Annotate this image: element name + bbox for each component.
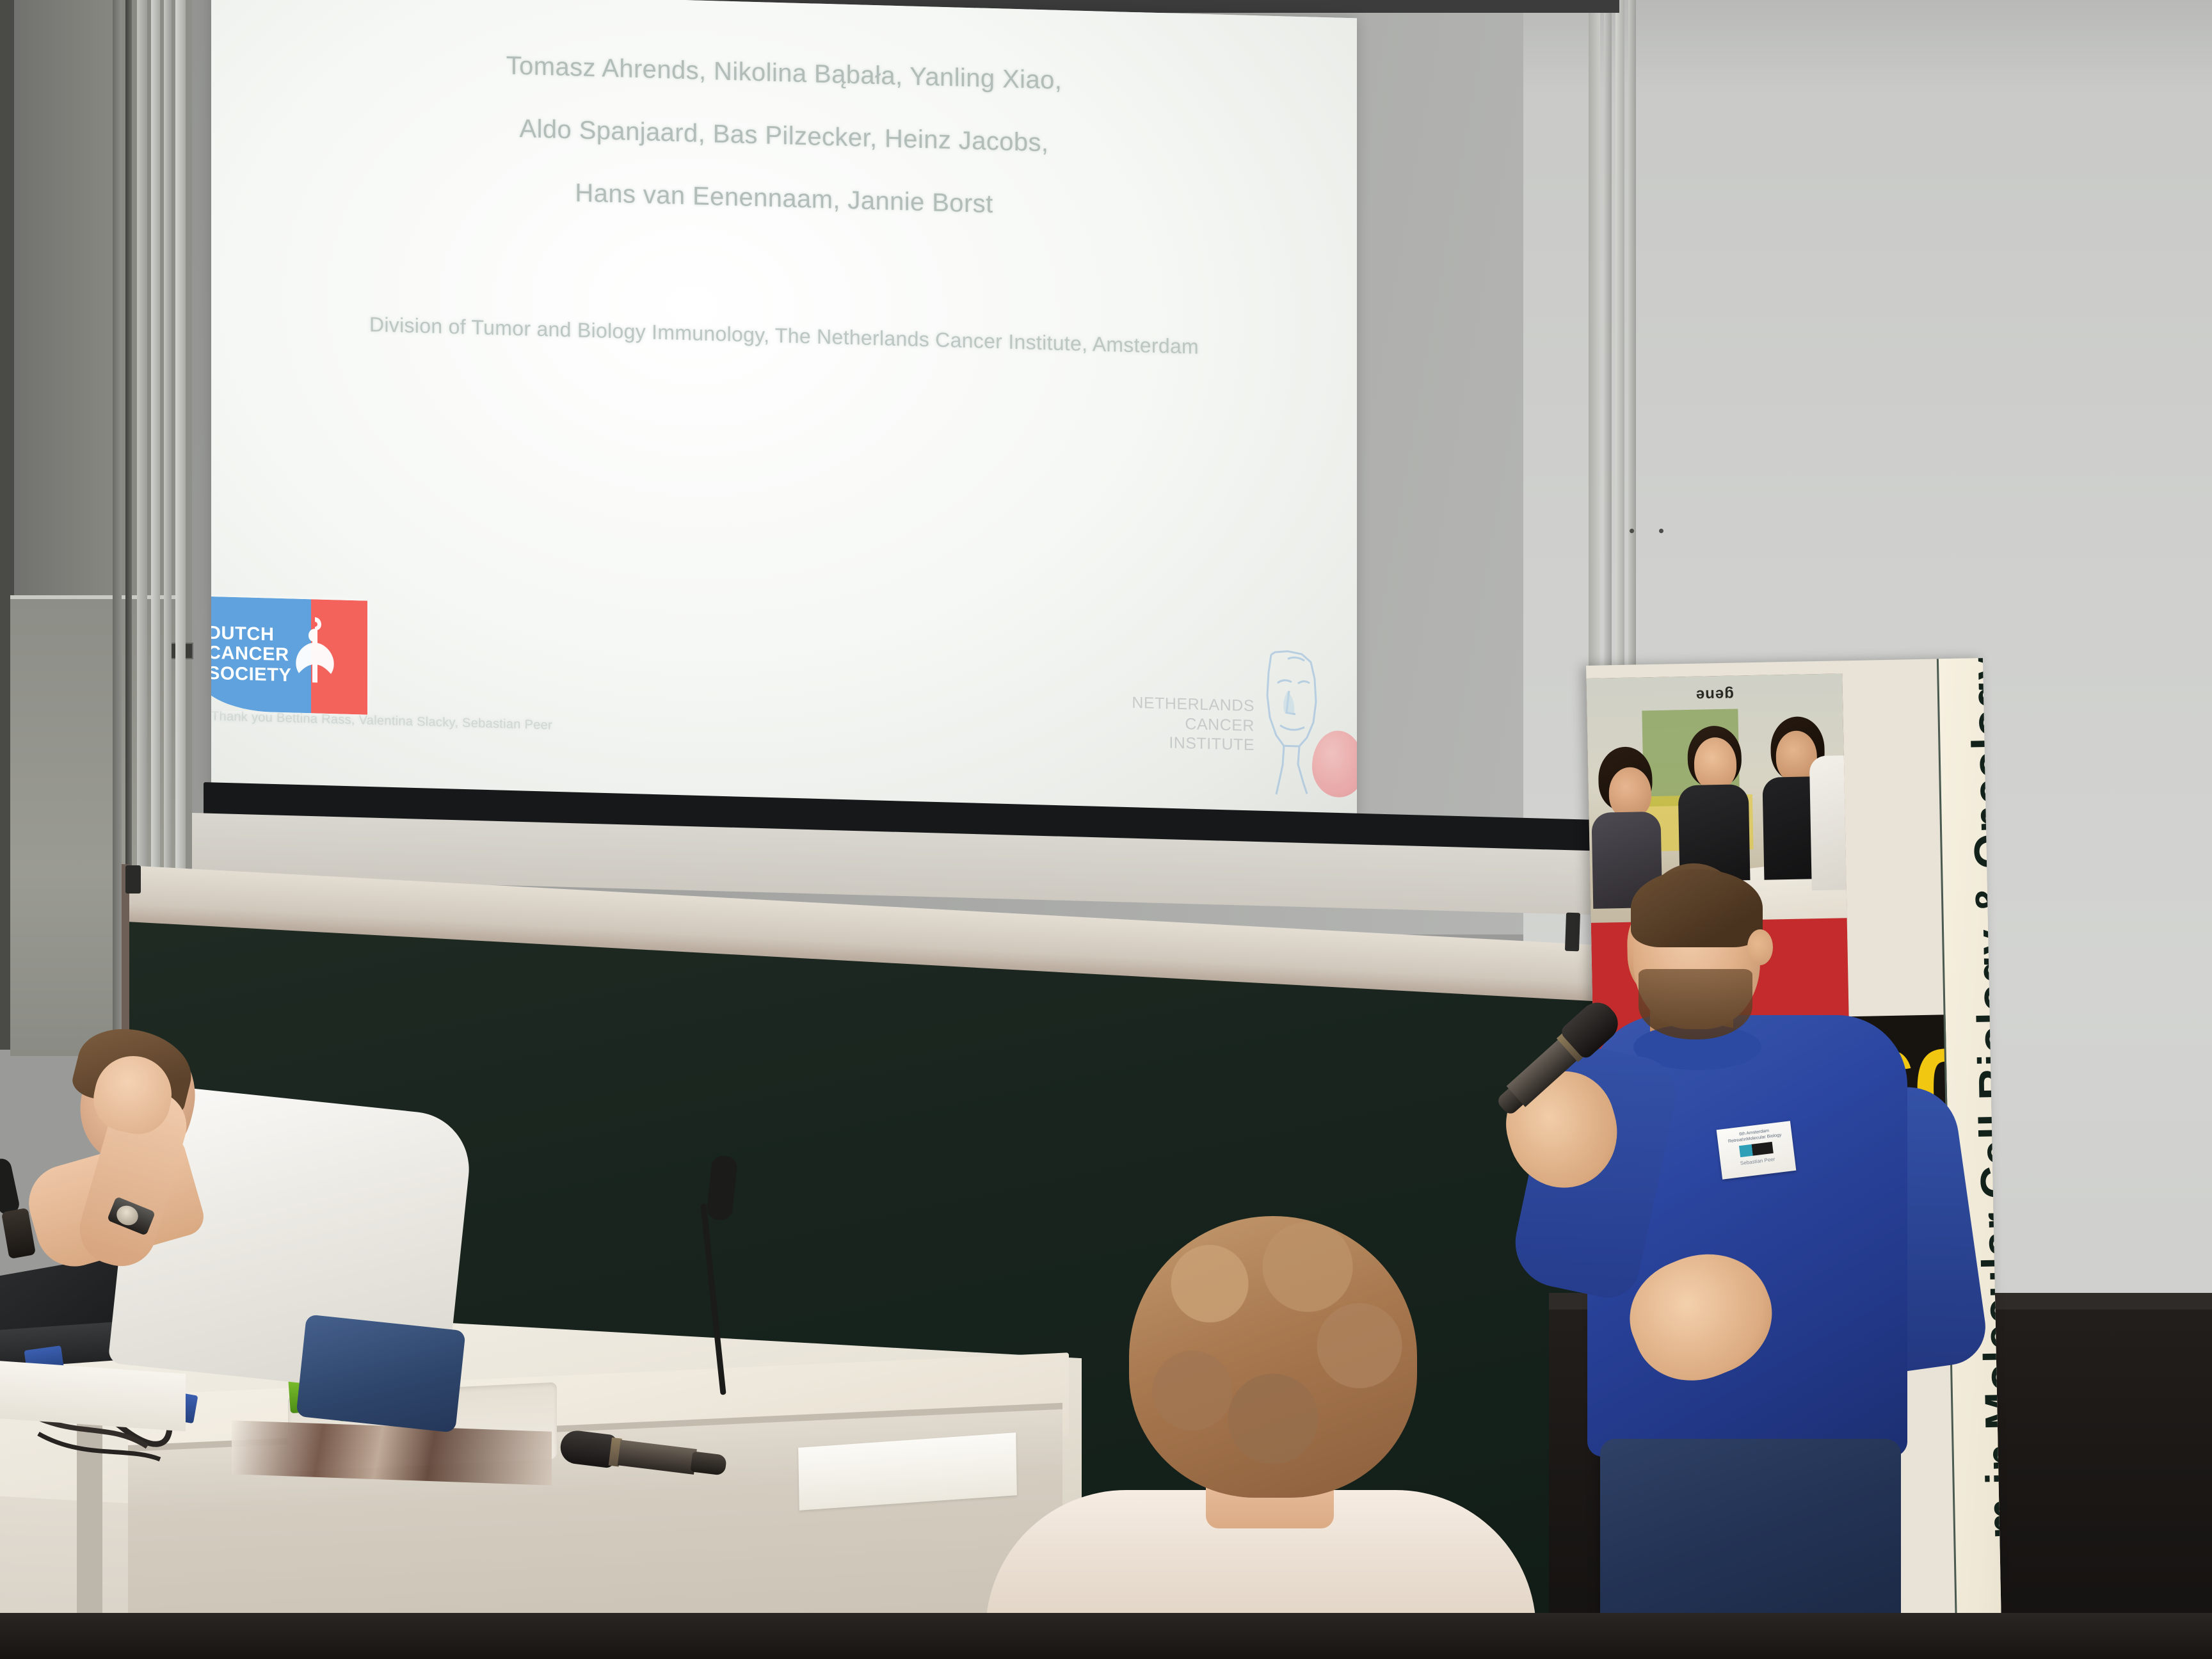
chalkboard-clip-left bbox=[125, 865, 141, 894]
dcs-red-panel bbox=[311, 599, 367, 714]
name-badge-name: Sebastian Peer bbox=[1724, 1154, 1791, 1168]
name-badge-header: 6th Amsterdam Retreat\nMolecular Biology bbox=[1721, 1126, 1788, 1146]
nki-text-block: NETHERLANDS CANCER INSTITUTE bbox=[1126, 693, 1254, 755]
lecture-hall-scene: Tomasz Ahrends, Nikolina Bąbała, Yanling… bbox=[0, 0, 2212, 1659]
mullion-column-right-3 bbox=[1615, 0, 1624, 678]
name-badge-logo-icon bbox=[1739, 1141, 1774, 1157]
name-badge: 6th Amsterdam Retreat\nMolecular Biology… bbox=[1717, 1121, 1797, 1180]
desk-papers-photos bbox=[232, 1420, 552, 1485]
mullion-screw-icon bbox=[1630, 529, 1634, 533]
projection-screen: Tomasz Ahrends, Nikolina Bąbała, Yanling… bbox=[211, 0, 1357, 823]
slide-authors-line-2: Aldo Spanjaard, Bas Pilzecker, Heinz Jac… bbox=[282, 109, 1286, 162]
netherlands-cancer-institute-logo: NETHERLANDS CANCER INSTITUTE bbox=[1126, 647, 1338, 806]
slide-authors-line-1: Tomasz Ahrends, Nikolina Bąbała, Yanling… bbox=[282, 47, 1286, 99]
speaker-hair bbox=[1631, 869, 1763, 947]
microphone-body bbox=[618, 1440, 697, 1475]
right-wall-shadow bbox=[1523, 0, 2212, 90]
dutch-cancer-society-logo: DUTCH CANCER SOCIETY bbox=[211, 596, 367, 714]
speaker-beard bbox=[1639, 969, 1752, 1039]
audience-hair bbox=[1129, 1216, 1417, 1498]
floor-shadow bbox=[0, 1613, 2212, 1659]
mullion-column-right bbox=[1589, 0, 1600, 678]
microphone-tail bbox=[690, 1451, 726, 1475]
mullion-column-right-4 bbox=[1628, 0, 1636, 677]
technician-jeans bbox=[296, 1314, 465, 1432]
banner-photo-person-1-face bbox=[1608, 767, 1652, 819]
chalkboard-clip-right bbox=[1565, 913, 1580, 952]
slide-affiliation: Division of Tumor and Biology Immunology… bbox=[282, 310, 1286, 361]
mullion-column-right-2 bbox=[1604, 0, 1612, 678]
banner-photo-person-2-face bbox=[1694, 737, 1737, 790]
nki-line-1: NETHERLANDS bbox=[1126, 693, 1254, 716]
speaker-ear bbox=[1747, 929, 1773, 965]
mullion-screw-icon-2 bbox=[1659, 529, 1663, 533]
banner-photo-person-4-body bbox=[1809, 755, 1849, 890]
nki-line-3: INSTITUTE bbox=[1126, 732, 1254, 755]
mullion-column-left bbox=[113, 0, 122, 1082]
swan-icon bbox=[284, 613, 346, 691]
banner-top-text: gene bbox=[1586, 673, 1843, 716]
slide-authors-line-3: Hans van Eenennaam, Jannie Borst bbox=[282, 172, 1286, 225]
gooseneck-microphone-left-head bbox=[0, 1157, 21, 1216]
